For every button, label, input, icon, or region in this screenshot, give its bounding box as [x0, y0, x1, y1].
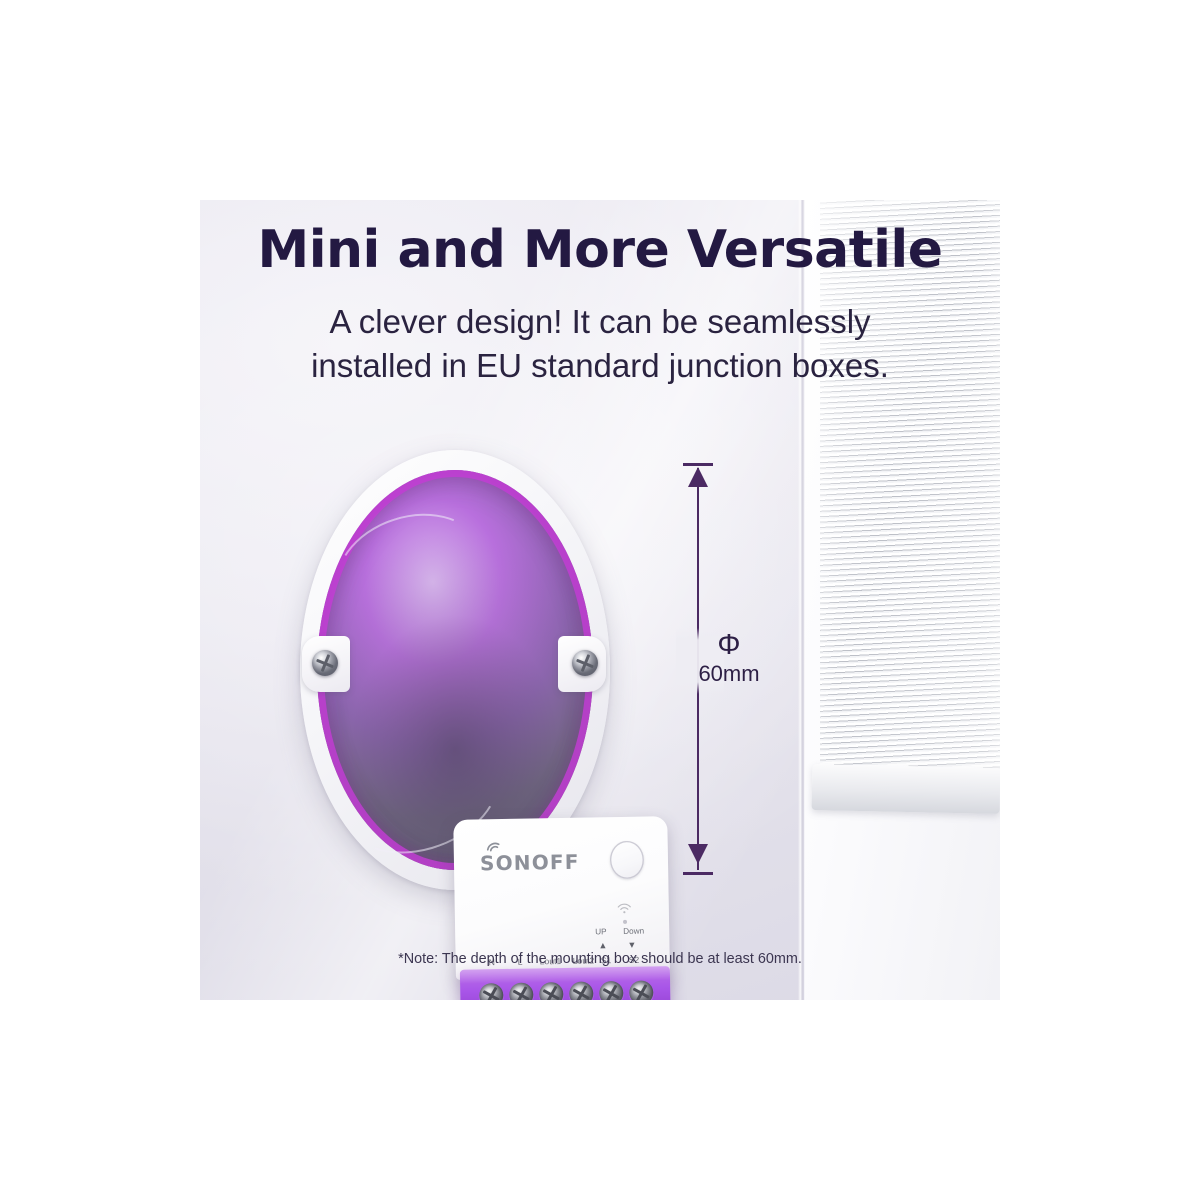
subtitle-line-1: A clever design! It can be seamlessly: [220, 300, 980, 344]
product-photo: SONOFF UP Down ▲ ▼ N L: [200, 200, 1000, 1000]
down-arrow-icon: ▼: [627, 941, 636, 950]
blind-light-glow: [820, 200, 1000, 775]
footnote: *Note: The depth of the mounting box sho…: [200, 951, 1000, 967]
subtitle: A clever design! It can be seamlessly in…: [220, 300, 980, 388]
screw-terminal-lout2: [569, 981, 593, 1000]
dimension-arrow-down-icon: [688, 844, 708, 864]
diameter-dimension-annotation: Φ 60mm: [670, 458, 800, 880]
product-feature-image: SONOFF UP Down ▲ ▼ N L: [0, 0, 1200, 1200]
junction-box: SONOFF UP Down ▲ ▼ N L: [300, 450, 610, 890]
venetian-blind: [820, 200, 1000, 775]
diameter-symbol: Φ: [670, 631, 788, 660]
up-arrow-icon: ▲: [598, 941, 607, 950]
blind-bottom-rail: [812, 764, 1000, 814]
dimension-arrow-up-icon: [688, 467, 708, 487]
dimension-cap-top: [683, 463, 713, 466]
screw-terminal-s2: [629, 980, 653, 1000]
dimension-cap-bottom: [683, 872, 713, 875]
mounting-screw-left: [312, 650, 338, 676]
dimension-label: Φ 60mm: [670, 631, 788, 688]
status-led: [623, 920, 627, 924]
diameter-value: 60mm: [670, 660, 788, 688]
up-label: UP: [595, 927, 607, 936]
subtitle-line-2: installed in EU standard junction boxes.: [220, 344, 980, 388]
screw-terminal-s1: [599, 981, 623, 1000]
mounting-screw-right: [572, 650, 598, 676]
down-label: Down: [623, 927, 644, 936]
headline: Mini and More Versatile: [200, 223, 1000, 278]
wifi-status-icon: [617, 903, 632, 914]
sonoff-smart-switch: SONOFF UP Down ▲ ▼ N L: [453, 816, 671, 1000]
sonoff-logo: SONOFF: [480, 852, 580, 874]
